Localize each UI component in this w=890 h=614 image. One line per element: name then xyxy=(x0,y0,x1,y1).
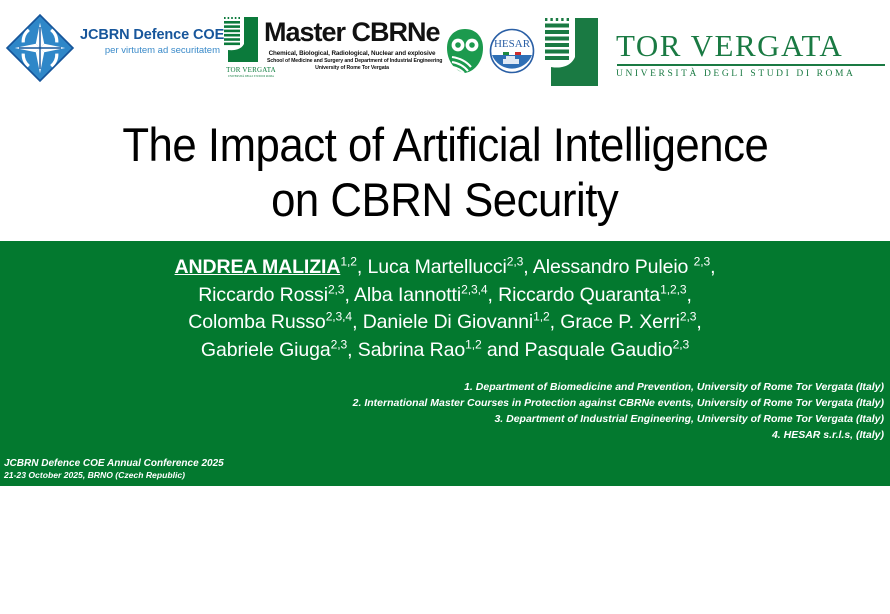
slide-title-line-1: The Impact of Artificial Intelligence xyxy=(122,118,768,173)
presentation-slide: JCBRN Defence COE per virtutem ad securi… xyxy=(0,0,890,486)
master-tagline-3: University of Rome Tor Vergata xyxy=(267,65,437,71)
author-affiliation-sup: 2,3 xyxy=(680,310,697,324)
author-separator: , xyxy=(710,256,715,278)
jcbrn-motto: per virtutem ad securitatem xyxy=(80,45,220,56)
author-name: , Alba Iannotti xyxy=(344,284,461,306)
author-name: , Alessandro Puleio xyxy=(523,256,693,278)
author-affiliation-sup: 2,3 xyxy=(328,282,345,296)
author-separator: , xyxy=(686,284,691,306)
affiliation-item: 1. Department of Biomedicine and Prevent… xyxy=(6,379,884,395)
slide-footer: JCBRN Defence COE Annual Conference 2025… xyxy=(4,457,224,482)
author-name: , Sabrina Rao xyxy=(347,339,465,361)
lead-author-affiliation-sup: 1,2 xyxy=(340,255,357,269)
author-affiliation-sup: 1,2 xyxy=(465,338,482,352)
tor-vergata-logo: TOR VERGATA UNIVERSITÀ DEGLI STUDI DI RO… xyxy=(542,16,886,90)
master-tagline-2: School of Medicine and Surgery and Depar… xyxy=(267,58,437,64)
author-name: and Pasquale Gaudio xyxy=(482,339,673,361)
affiliation-item: 4. HESAR s.r.l.s, (Italy) xyxy=(6,427,884,443)
logo-bar: JCBRN Defence COE per virtutem ad securi… xyxy=(0,0,890,100)
conference-date-location: 21-23 October 2025, BRNO (Czech Republic… xyxy=(4,470,224,482)
author-name: , Daniele Di Giovanni xyxy=(352,311,533,333)
master-cbrne-taglines: Chemical, Biological, Radiological, Nucl… xyxy=(267,50,437,71)
master-tagline-1: Chemical, Biological, Radiological, Nucl… xyxy=(267,50,437,57)
tor-vergata-u-icon xyxy=(542,16,604,88)
authors-line-3: Colomba Russo2,3,4, Daniele Di Giovanni1… xyxy=(0,309,890,337)
author-name: Riccardo Rossi xyxy=(198,284,328,306)
author-name: Colomba Russo xyxy=(188,311,325,333)
slide-title: The Impact of Artificial Intelligence on… xyxy=(0,104,890,241)
authors-line-1: ANDREA MALIZIA1,2, Luca Martellucci2,3, … xyxy=(0,254,890,282)
affiliations-list: 1. Department of Biomedicine and Prevent… xyxy=(6,379,884,443)
affiliation-item: 3. Department of Industrial Engineering,… xyxy=(6,411,884,427)
author-affiliation-sup: 2,3,4 xyxy=(461,282,487,296)
slide-title-line-2: on CBRN Security xyxy=(271,173,618,228)
master-cbrne-wordmark: Master CBRNe xyxy=(264,17,440,48)
authors-line-4: Gabriele Giuga2,3, Sabrina Rao1,2 and Pa… xyxy=(0,337,890,365)
hesar-label: HESAR xyxy=(494,38,531,50)
authors-panel: ANDREA MALIZIA1,2, Luca Martellucci2,3, … xyxy=(0,241,890,486)
owl-icon xyxy=(444,27,486,75)
tor-vergata-wordmark: TOR VERGATA UNIVERSITÀ DEGLI STUDI DI RO… xyxy=(616,30,885,79)
tor-vergata-subtitle: UNIVERSITÀ DEGLI STUDI DI ROMA xyxy=(616,69,885,79)
author-affiliation-sup: 1,2,3 xyxy=(660,282,686,296)
conference-name: JCBRN Defence COE Annual Conference 2025 xyxy=(4,457,224,471)
master-cbrne-logo: TOR VERGATA UNIVERSITÀ DEGLI STUDI DI RO… xyxy=(222,16,437,90)
lead-author-name: ANDREA MALIZIA xyxy=(175,256,341,278)
nato-compass-diamond-icon xyxy=(5,13,75,83)
author-name: , Luca Martellucci xyxy=(357,256,507,278)
tor-vergata-title: TOR VERGATA xyxy=(616,30,885,61)
author-affiliation-sup: 1,2 xyxy=(533,310,550,324)
authors-line-2: Riccardo Rossi2,3, Alba Iannotti2,3,4, R… xyxy=(0,282,890,310)
tor-vergata-rule xyxy=(617,64,885,66)
affiliation-item: 2. International Master Courses in Prote… xyxy=(6,395,884,411)
author-name: Gabriele Giuga xyxy=(201,339,331,361)
jcbrn-title: JCBRN Defence COE xyxy=(80,27,220,43)
section-divider xyxy=(505,609,835,614)
author-affiliation-sup: 2,3 xyxy=(694,255,711,269)
tor-vergata-u-icon xyxy=(222,16,262,64)
author-affiliation-sup: 2,3 xyxy=(673,338,690,352)
authors-list: ANDREA MALIZIA1,2, Luca Martellucci2,3, … xyxy=(0,254,890,365)
author-name: , Grace P. Xerri xyxy=(550,311,680,333)
hesar-globe-icon: HESAR xyxy=(488,27,536,75)
author-affiliation-sup: 2,3 xyxy=(507,255,524,269)
author-separator: , xyxy=(696,311,701,333)
jcbrn-text-block: JCBRN Defence COE per virtutem ad securi… xyxy=(80,27,220,56)
author-name: , Riccardo Quaranta xyxy=(487,284,660,306)
master-tv-sub: UNIVERSITÀ DEGLI STUDI DI ROMA xyxy=(225,74,277,78)
author-affiliation-sup: 2,3,4 xyxy=(326,310,352,324)
author-affiliation-sup: 2,3 xyxy=(331,338,348,352)
jcbrn-defence-coe-logo: JCBRN Defence COE per virtutem ad securi… xyxy=(5,13,223,85)
